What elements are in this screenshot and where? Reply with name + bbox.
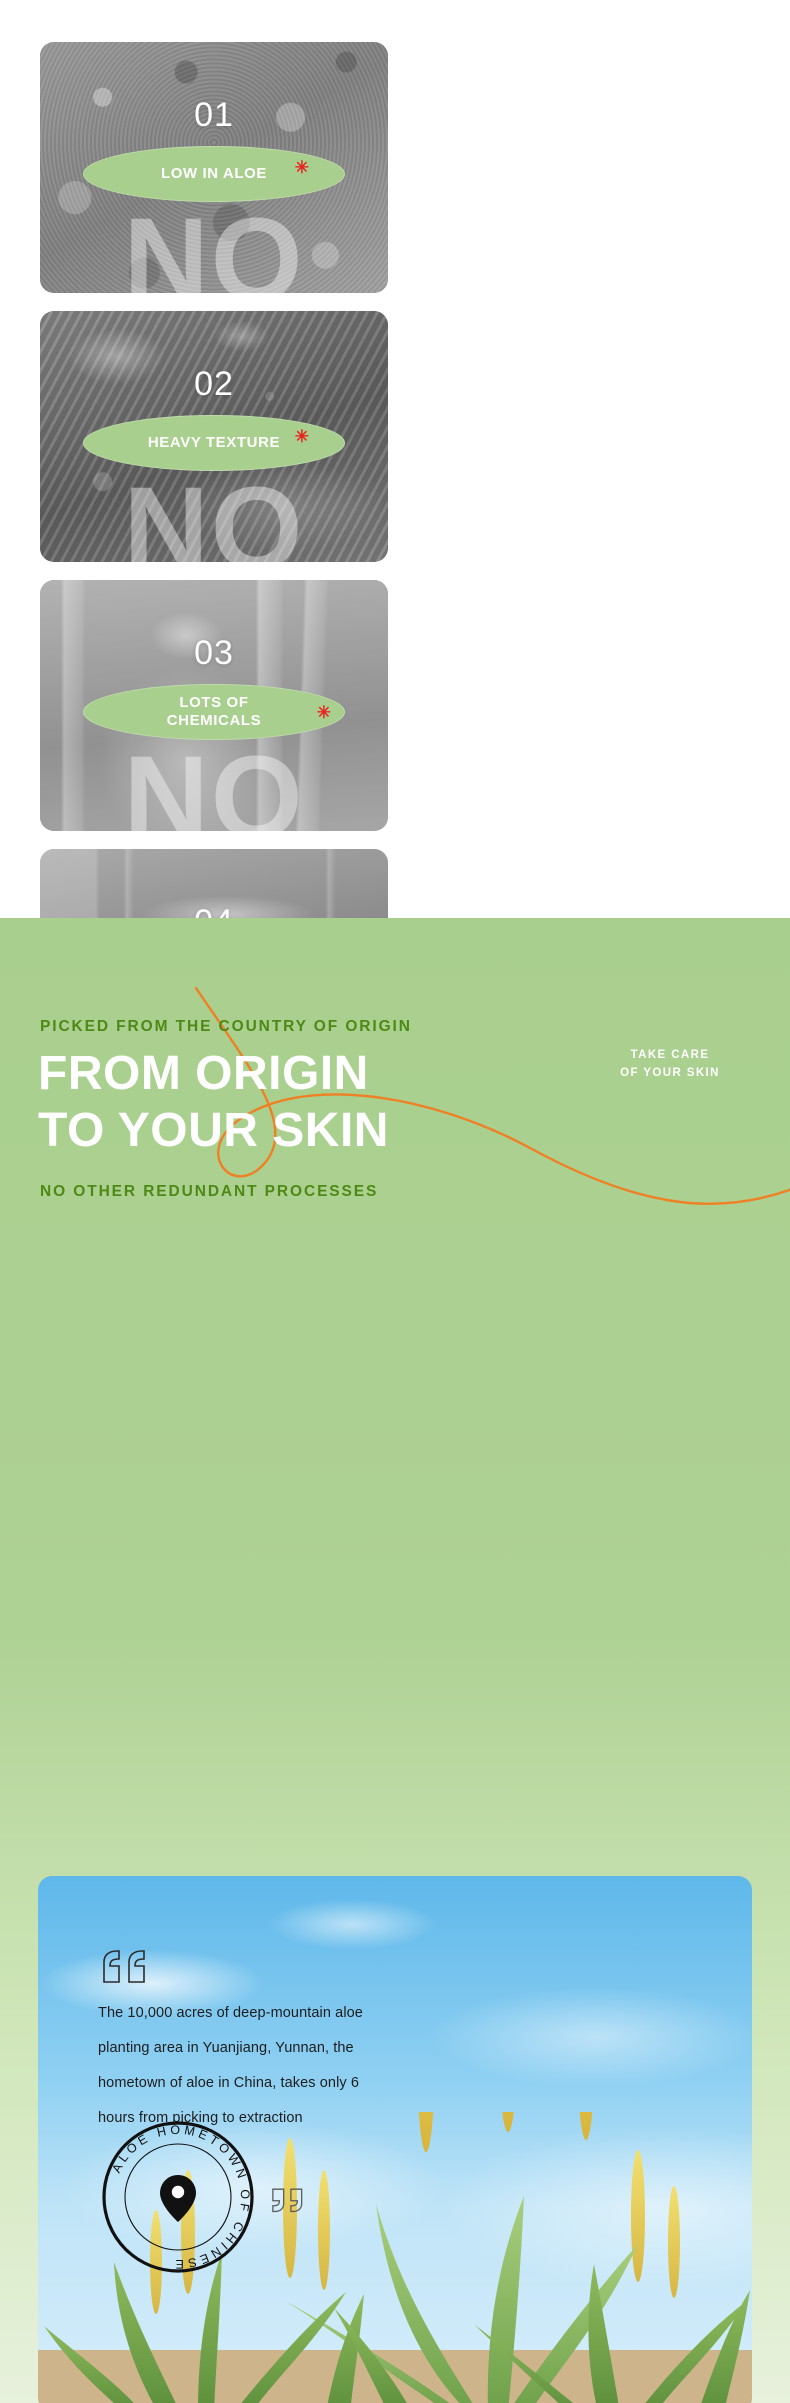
- product-landing-page: 01 LOW IN ALOE ✳ NO 02 HEAVY TEXTURE ✳ N…: [0, 0, 790, 2403]
- no-card-03[interactable]: 03 LOTS OFCHEMICALS ✳ NO: [40, 580, 388, 831]
- take-care-badge: TAKE CARE OF YOUR SKIN: [580, 1047, 760, 1083]
- aloe-field-card[interactable]: The 10,000 acres of deep-mountain aloe p…: [38, 1876, 752, 2403]
- asterisk-icon: ✳: [295, 428, 309, 445]
- origin-section: PICKED FROM THE COUNTRY OF ORIGIN FROM O…: [0, 918, 790, 2403]
- origin-eyebrow: PICKED FROM THE COUNTRY OF ORIGIN: [40, 1018, 412, 1036]
- card-number: 03: [40, 634, 388, 673]
- origin-title-line-2: TO YOUR SKIN: [38, 1103, 658, 1160]
- card-number: 02: [40, 365, 388, 404]
- origin-title: FROM ORIGIN TO YOUR SKIN: [38, 1046, 658, 1159]
- no-cards-section: 01 LOW IN ALOE ✳ NO 02 HEAVY TEXTURE ✳ N…: [0, 0, 790, 918]
- origin-subline: NO OTHER REDUNDANT PROCESSES: [40, 1183, 378, 1201]
- take-care-line-2: OF YOUR SKIN: [580, 1065, 760, 1083]
- quote-close-icon: [270, 2186, 306, 2219]
- card-number: 01: [40, 96, 388, 135]
- card-badge-label: LOTS OFCHEMICALS: [167, 694, 262, 731]
- no-card-02[interactable]: 02 HEAVY TEXTURE ✳ NO: [40, 311, 388, 562]
- card-watermark: NO: [40, 470, 388, 562]
- asterisk-icon: ✳: [295, 159, 309, 176]
- take-care-line-1: TAKE CARE: [580, 1047, 760, 1065]
- no-card-01[interactable]: 01 LOW IN ALOE ✳ NO: [40, 42, 388, 293]
- card-watermark: NO: [40, 201, 388, 293]
- card-badge-label: HEAVY TEXTURE: [148, 434, 280, 452]
- aloe-hometown-stamp: ALOE HOMETOWN OF CHINESE: [93, 2112, 263, 2282]
- card-badge-label: LOW IN ALOE: [161, 165, 267, 183]
- location-pin-icon: [160, 2175, 196, 2222]
- quote-open-icon: [100, 1948, 150, 1986]
- origin-title-line-1: FROM ORIGIN: [38, 1046, 658, 1103]
- asterisk-icon: ✳: [317, 704, 331, 721]
- card-watermark: NO: [40, 739, 388, 831]
